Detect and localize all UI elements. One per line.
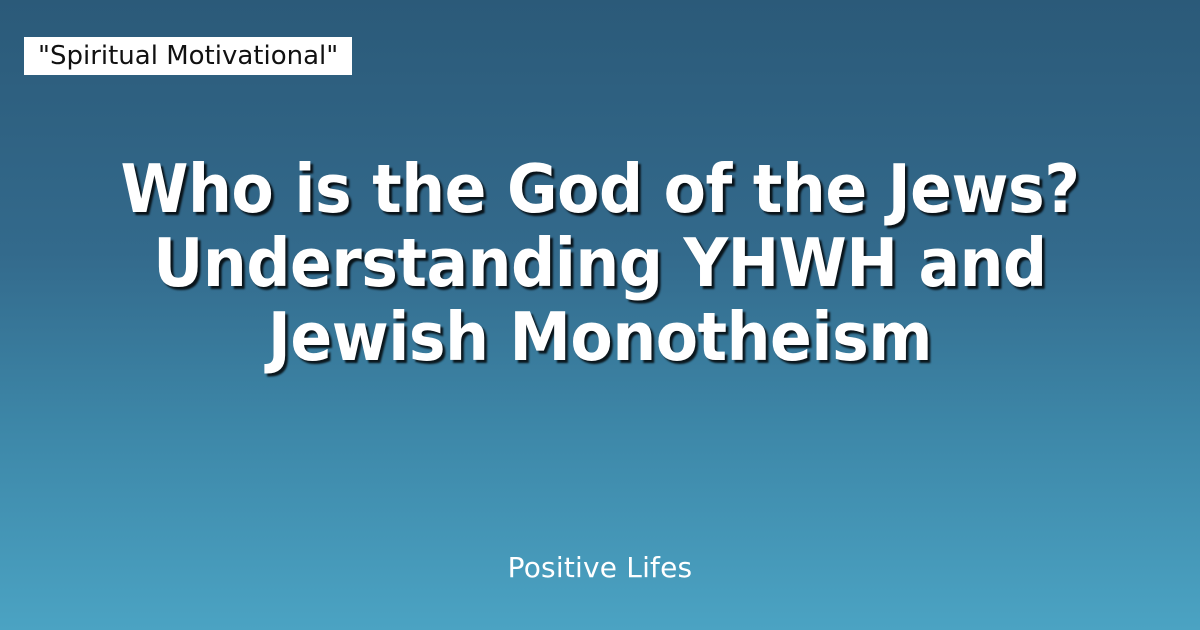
- social-share-card: "Spiritual Motivational" Who is the God …: [0, 0, 1200, 630]
- headline-line-3: Jewish Monotheism: [48, 300, 1152, 374]
- page-title: Who is the God of the Jews? Understandin…: [0, 152, 1200, 374]
- headline-line-1: Who is the God of the Jews?: [48, 152, 1152, 226]
- category-badge: "Spiritual Motivational": [24, 37, 352, 75]
- brand-name: Positive Lifes: [508, 551, 693, 584]
- brand-footer: Positive Lifes: [0, 551, 1200, 585]
- headline-line-2: Understanding YHWH and: [48, 226, 1152, 300]
- category-badge-label: "Spiritual Motivational": [38, 43, 338, 69]
